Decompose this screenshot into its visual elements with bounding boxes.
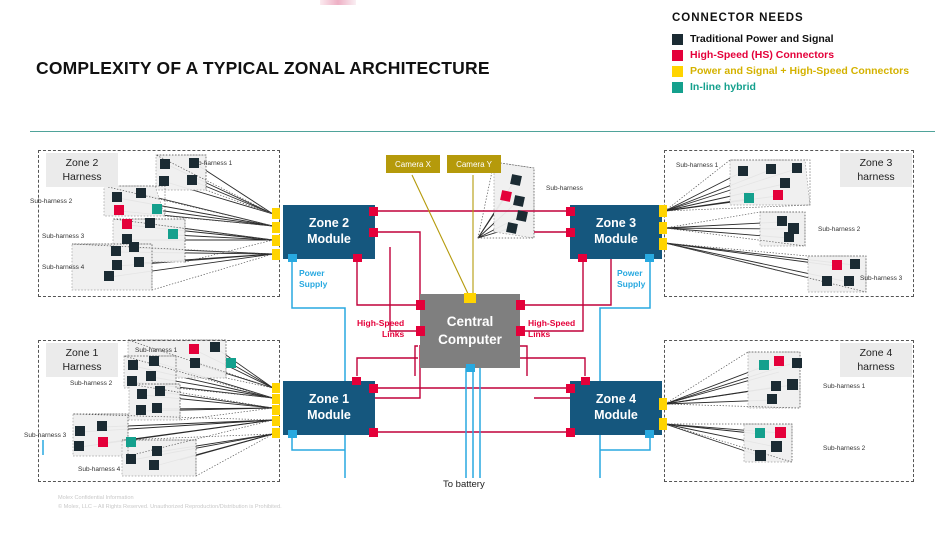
connector-chip <box>516 210 528 222</box>
port-connector <box>516 300 525 310</box>
connector-chip <box>152 446 162 456</box>
camera-y-label: Camera Y <box>456 160 492 169</box>
power-supply-left-line1: Power <box>299 268 325 278</box>
zone1-sub3-label: Sub-harness 3 <box>24 432 66 439</box>
zone2-sub3-label: Sub-harness 3 <box>42 233 84 240</box>
port-connector <box>645 254 654 262</box>
connector-chip <box>777 216 787 226</box>
zone1-module[interactable]: Zone 1 Module <box>283 381 375 435</box>
zone3-sub2-label: Sub-harness 2 <box>818 226 860 233</box>
connector-chip <box>152 403 162 413</box>
connector-chip <box>500 190 512 202</box>
connector-chip <box>74 441 84 451</box>
zone3-harness-label: Zone 3 harness <box>840 153 912 187</box>
connector-chip <box>111 246 121 256</box>
connector-chip <box>780 178 790 188</box>
connector-chip <box>159 176 169 186</box>
connector-chip <box>112 192 122 202</box>
port-connector <box>659 238 667 250</box>
zone4-label-line2: harness <box>857 361 894 373</box>
connector-chip <box>190 358 200 368</box>
connector-chip <box>850 259 860 269</box>
connector-chip <box>187 175 197 185</box>
hs-left-line2: Links <box>382 329 404 339</box>
port-connector <box>272 428 280 438</box>
zone3-module[interactable]: Zone 3 Module <box>570 205 662 259</box>
connector-chip <box>513 195 525 207</box>
zone3-label-line2: harness <box>857 171 894 183</box>
zone2-sub2-label: Sub-harness 2 <box>30 198 72 205</box>
connector-chip <box>145 218 155 228</box>
zone1-sub1-label: Sub-harness 1 <box>135 347 177 354</box>
connector-chip <box>771 441 782 452</box>
port-connector <box>369 228 378 237</box>
connector-chip <box>149 356 159 366</box>
connector-chip <box>128 360 138 370</box>
connector-chip <box>137 389 147 399</box>
connector-chip <box>134 257 144 267</box>
hs-right-line1: High-Speed <box>528 318 575 328</box>
zone3-sub3-label: Sub-harness 3 <box>860 275 902 282</box>
port-connector <box>272 416 280 426</box>
port-connector <box>581 377 590 385</box>
zone2-module-line1: Zone 2 <box>309 216 349 230</box>
power-supply-right-line1: Power <box>617 268 643 278</box>
connector-chip <box>767 394 777 404</box>
connector-chip <box>832 260 842 270</box>
hs-right-line2: Links <box>528 329 550 339</box>
port-connector <box>566 228 575 237</box>
connector-chip <box>792 163 802 173</box>
zone3-module-line1: Zone 3 <box>596 216 636 230</box>
zone1-harness-label: Zone 1 Harness <box>46 343 118 377</box>
port-connector <box>416 300 425 310</box>
power-supply-right-line2: Supply <box>617 279 645 289</box>
connector-chip <box>510 174 522 186</box>
port-connector <box>566 428 575 437</box>
to-battery-label: To battery <box>443 479 485 490</box>
port-connector <box>464 293 476 303</box>
port-connector <box>288 430 297 438</box>
zone4-harness-label: Zone 4 harness <box>840 343 912 377</box>
port-connector <box>516 326 525 336</box>
port-connector <box>369 207 378 216</box>
zone2-label-line2: Harness <box>62 171 101 183</box>
zone4-module[interactable]: Zone 4 Module <box>570 381 662 435</box>
connector-chip <box>210 342 220 352</box>
connector-chip <box>126 454 136 464</box>
port-connector <box>272 405 280 415</box>
footer: Molex Confidential Information © Molex, … <box>58 494 282 512</box>
footer-line-1: Molex Confidential Information <box>58 494 282 503</box>
high-speed-links-left-label: High-Speed Links <box>357 318 404 340</box>
connector-chip <box>189 344 199 354</box>
connector-chip <box>506 222 518 234</box>
zone4-module-line1: Zone 4 <box>596 392 636 406</box>
camera-x-node[interactable]: Camera X <box>386 155 440 173</box>
port-connector <box>352 377 361 385</box>
port-connector <box>272 249 280 260</box>
zone1-sub2-label: Sub-harness 2 <box>70 380 112 387</box>
port-connector <box>369 428 378 437</box>
connector-chip <box>126 437 136 447</box>
zone3-label-line1: Zone 3 <box>860 157 893 169</box>
connector-chip <box>98 437 108 447</box>
port-connector <box>272 235 280 246</box>
connector-chip <box>104 271 114 281</box>
connector-chip <box>784 232 794 242</box>
connector-chip <box>774 356 784 366</box>
port-connector <box>645 430 654 438</box>
port-connector <box>272 394 280 404</box>
central-computer[interactable]: Central Computer <box>420 294 520 368</box>
connector-chip <box>152 204 162 214</box>
connector-chip <box>189 158 199 168</box>
zone4-sub2-label: Sub-harness 2 <box>823 445 865 452</box>
connector-chip <box>127 376 137 386</box>
zone1-sub4-label: Sub-harness 4 <box>78 466 120 473</box>
connector-chip <box>160 159 170 169</box>
power-supply-left-label: Power Supply <box>299 268 327 290</box>
central-computer-line1: Central <box>447 314 494 329</box>
port-connector <box>566 207 575 216</box>
port-connector <box>369 384 378 393</box>
zone2-label-line1: Zone 2 <box>66 157 99 169</box>
connector-chip <box>112 260 122 270</box>
connector-chip <box>168 229 178 239</box>
central-computer-line2: Computer <box>438 332 502 347</box>
connector-chip <box>844 276 854 286</box>
connector-chip <box>114 205 124 215</box>
power-supply-right-label: Power Supply <box>617 268 645 290</box>
footer-line-2: © Molex, LLC – All Rights Reserved. Unau… <box>58 503 282 512</box>
connector-chip <box>766 164 776 174</box>
zone1-module-line2: Module <box>307 408 351 422</box>
zone4-sub1-label: Sub-harness 1 <box>823 383 865 390</box>
zone2-harness-label: Zone 2 Harness <box>46 153 118 187</box>
connector-chip <box>759 360 769 370</box>
power-supply-left-line2: Supply <box>299 279 327 289</box>
connector-chip <box>129 242 139 252</box>
connector-chip <box>773 190 783 200</box>
zone2-module-line2: Module <box>307 232 351 246</box>
connector-chip <box>149 460 159 470</box>
zone4-label-line1: Zone 4 <box>860 347 893 359</box>
connector-chip <box>822 276 832 286</box>
zone1-label-line2: Harness <box>62 361 101 373</box>
port-connector <box>353 254 362 262</box>
port-connector <box>272 208 280 219</box>
connector-chip <box>97 421 107 431</box>
zone3-sub1-label: Sub-harness 1 <box>676 162 718 169</box>
connector-chip <box>146 371 156 381</box>
connector-chip <box>226 358 236 368</box>
connector-chip <box>775 427 786 438</box>
connector-chip <box>792 358 802 368</box>
camera-y-node[interactable]: Camera Y <box>447 155 501 173</box>
diagram-canvas: COMPLEXITY OF A TYPICAL ZONAL ARCHITECTU… <box>0 0 950 534</box>
zone1-label-line1: Zone 1 <box>66 347 99 359</box>
zone2-module[interactable]: Zone 2 Module <box>283 205 375 259</box>
port-connector <box>578 254 587 262</box>
connector-chip <box>136 188 146 198</box>
high-speed-links-right-label: High-Speed Links <box>528 318 575 340</box>
connector-chip <box>755 450 766 461</box>
connector-chip <box>122 219 132 229</box>
port-connector <box>416 326 425 336</box>
hs-left-line1: High-Speed <box>357 318 404 328</box>
camera-sub-harness-label: Sub-harness <box>546 185 583 192</box>
connector-chip <box>738 166 748 176</box>
connector-chip <box>771 381 781 391</box>
connector-chip <box>755 428 765 438</box>
camera-x-label: Camera X <box>395 160 431 169</box>
zone4-module-line2: Module <box>594 408 638 422</box>
port-connector <box>659 205 667 217</box>
port-connector <box>272 222 280 233</box>
zone3-module-line2: Module <box>594 232 638 246</box>
zone2-sub4-label: Sub-harness 4 <box>42 264 84 271</box>
connector-chip <box>787 379 798 390</box>
port-connector <box>288 254 297 262</box>
port-connector <box>272 383 280 393</box>
port-connector <box>659 222 667 234</box>
connector-chip <box>75 426 85 436</box>
port-connector <box>659 418 667 430</box>
zone1-module-line1: Zone 1 <box>309 392 349 406</box>
connector-chip <box>155 386 165 396</box>
port-connector <box>659 398 667 410</box>
connector-chip <box>744 193 754 203</box>
port-connector <box>566 384 575 393</box>
port-connector <box>466 364 475 372</box>
connector-chip <box>136 405 146 415</box>
